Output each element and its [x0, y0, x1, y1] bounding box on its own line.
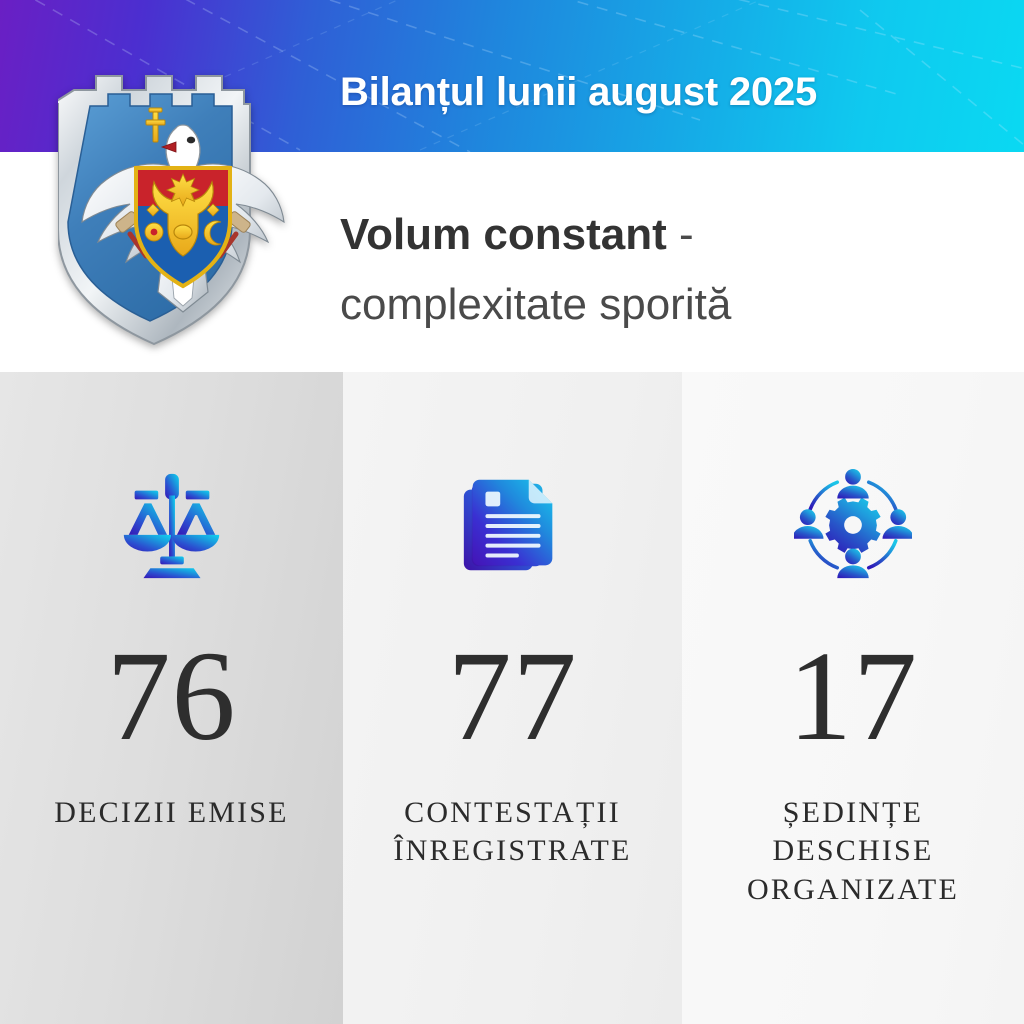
page-title: Bilanțul lunii august 2025 — [340, 70, 817, 115]
stat-label: DECIZII EMISE — [44, 794, 298, 832]
people-network-gear-icon — [788, 460, 918, 590]
subtitle-strong: Volum constant — [340, 210, 667, 259]
stat-value: 77 — [448, 632, 578, 760]
stat-label: ȘEDINȚE DESCHISE ORGANIZATE — [703, 794, 1003, 909]
documents-stack-icon — [448, 460, 578, 590]
stat-panel-decizii: 76 DECIZII EMISE — [0, 372, 343, 1024]
stat-label: CONTESTAȚII ÎNREGISTRATE — [363, 794, 663, 871]
subtitle-line-2: complexitate sporită — [340, 280, 731, 330]
subtitle-line-1: Volum constant - — [340, 210, 694, 260]
stat-panel-contestatii: 77 CONTESTAȚII ÎNREGISTRATE — [343, 372, 682, 1024]
stat-value: 17 — [788, 632, 918, 760]
stat-panel-sedinte: 17 ȘEDINȚE DESCHISE ORGANIZATE — [682, 372, 1024, 1024]
scales-of-justice-icon — [107, 460, 237, 590]
stats-panels: 76 DECIZII EMISE — [0, 372, 1024, 1024]
stat-value: 76 — [107, 632, 237, 760]
coat-of-arms-icon — [58, 56, 308, 348]
subtitle-dash: - — [667, 210, 694, 259]
